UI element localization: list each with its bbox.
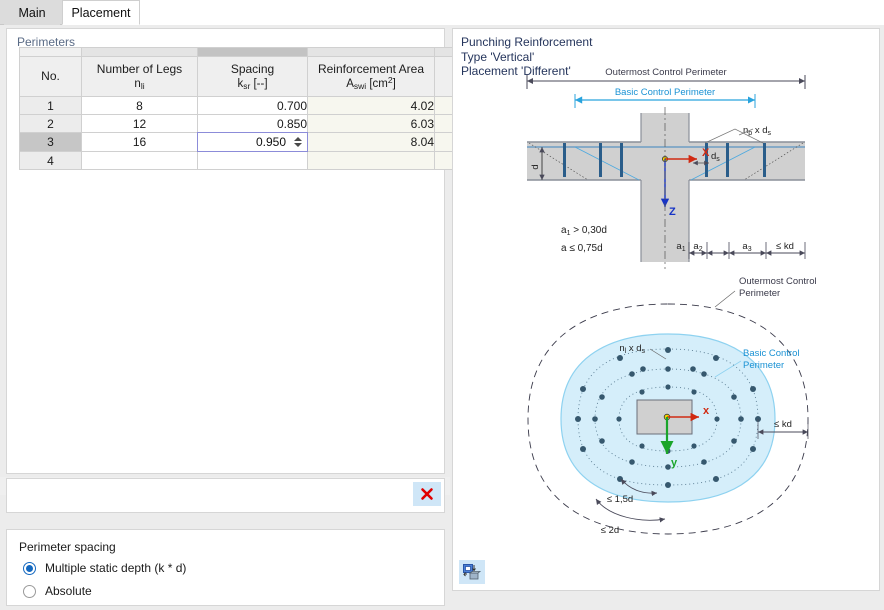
table-row[interactable]: 3 16 0.950 8.04: [20, 133, 453, 152]
header-reinforcement-area: Reinforcement Area Aswi [cm2]: [308, 57, 435, 97]
radio-unselected-icon[interactable]: [23, 585, 36, 598]
label-outermost-control-perimeter-section: Outermost Control Perimeter: [605, 67, 726, 78]
header-number-of-legs: Number of Legs nli: [82, 57, 198, 97]
dimension-chain-a1-a2-a3-kd: a1 a2 a3 ≤ kd: [676, 241, 805, 259]
radio-selected-icon[interactable]: [23, 562, 36, 575]
export-picture-button[interactable]: [459, 560, 485, 584]
cell-legs[interactable]: 16: [82, 133, 198, 152]
spinner-up-icon[interactable]: [294, 137, 302, 141]
app-window: Main Placement Perimeters: [0, 0, 884, 610]
axis-label-z-section: Z: [669, 206, 676, 218]
column-selector-legs[interactable]: [82, 48, 198, 57]
table-row[interactable]: 2 12 0.850 6.03: [20, 115, 453, 133]
tab-placement-label: Placement: [71, 6, 130, 20]
left-column: Perimeters: [0, 25, 450, 610]
radio-multiple-static-depth[interactable]: Multiple static depth (k * d): [23, 561, 186, 575]
radio-absolute-label: Absolute: [45, 584, 92, 598]
cell-tail: [435, 133, 453, 152]
svg-text:Perimeter: Perimeter: [743, 360, 784, 371]
perimeters-table: No. Number of Legs nli Spacing ksr [--] …: [19, 47, 453, 170]
dim-label-1-5d: ≤ 1,5d: [607, 494, 633, 505]
column-selector-spacing[interactable]: [198, 48, 308, 57]
cell-spacing-editor[interactable]: 0.950: [198, 133, 308, 152]
tab-strip-filler: [136, 0, 884, 25]
section-view: Outermost Control Perimeter Basic Contro…: [527, 67, 805, 269]
spacing-spinner[interactable]: 0.950: [197, 132, 308, 152]
table-row[interactable]: 4: [20, 152, 453, 170]
plan-view: Outermost Control Perimeter Basic Contro…: [528, 276, 817, 536]
dim-label-a2: a2: [693, 241, 702, 253]
cell-legs[interactable]: 12: [82, 115, 198, 133]
table-header-row: No. Number of Legs nli Spacing ksr [--] …: [20, 57, 453, 97]
row-number[interactable]: 4: [20, 152, 82, 170]
tab-main[interactable]: Main: [4, 0, 60, 25]
tab-strip: Main Placement: [0, 0, 884, 25]
column-selector-row[interactable]: [20, 48, 453, 57]
export-picture-icon: [463, 564, 481, 581]
note-a1: a1 > 0,30d: [561, 225, 607, 237]
row-number[interactable]: 1: [20, 97, 82, 115]
tab-main-label: Main: [18, 6, 45, 20]
cell-area: [308, 152, 435, 170]
cell-legs[interactable]: [82, 152, 198, 170]
perimeter-spacing-label: Perimeter spacing: [19, 540, 116, 554]
dim-label-kd-plan: ≤ kd: [774, 419, 792, 430]
table-row[interactable]: 1 8 0.700 4.02: [20, 97, 453, 115]
tab-placement[interactable]: Placement: [62, 0, 140, 25]
header-no: No.: [20, 57, 82, 97]
dim-label-2d: ≤ 2d: [601, 525, 619, 536]
close-x-icon: [420, 487, 434, 501]
perimeters-table-wrap: No. Number of Legs nli Spacing ksr [--] …: [19, 47, 452, 170]
svg-text:Perimeter: Perimeter: [739, 288, 780, 299]
cell-area: 8.04: [308, 133, 435, 152]
row-number[interactable]: 3: [20, 133, 82, 152]
cell-spacing[interactable]: 0.850: [198, 115, 308, 133]
radio-absolute[interactable]: Absolute: [23, 584, 92, 598]
header-spacing: Spacing ksr [--]: [198, 57, 308, 97]
row-number[interactable]: 2: [20, 115, 82, 133]
table-corner-selector[interactable]: [20, 48, 82, 57]
header-legs-symbol: nli: [82, 77, 197, 92]
cell-legs[interactable]: 8: [82, 97, 198, 115]
axis-label-x-section: X: [702, 147, 710, 159]
label-basic-control-perimeter-plan: Basic Control: [743, 348, 800, 359]
label-outermost-control-perimeter-plan: Outermost Control: [739, 276, 817, 287]
cell-area: 4.02: [308, 97, 435, 115]
axis-label-x-plan: x: [703, 405, 710, 417]
spinner-arrows-icon[interactable]: [294, 136, 302, 148]
message-bar: [6, 478, 445, 513]
label-basic-control-perimeter-section: Basic Control Perimeter: [615, 87, 715, 98]
axis-label-y-plan: y: [671, 457, 678, 469]
header-area-symbol: Aswi [cm2]: [308, 77, 434, 92]
dim-label-kd: ≤ kd: [776, 241, 794, 252]
radio-multiple-static-depth-label: Multiple static depth (k * d): [45, 561, 186, 575]
message-close-button[interactable]: [413, 482, 441, 506]
spacing-input-value[interactable]: 0.950: [256, 135, 286, 149]
cell-spacing[interactable]: 0.700: [198, 97, 308, 115]
punching-reinforcement-diagram: Outermost Control Perimeter Basic Contro…: [453, 29, 879, 590]
cell-area: 6.03: [308, 115, 435, 133]
note-a: a ≤ 0,75d: [561, 243, 603, 254]
cell-tail: [435, 115, 453, 133]
header-spacing-symbol: ksr [--]: [198, 77, 307, 92]
label-effective-depth: d: [530, 164, 541, 169]
cell-spacing[interactable]: [198, 152, 308, 170]
cell-tail: [435, 97, 453, 115]
perimeter-spacing-groupbox: Perimeter spacing Multiple static depth …: [6, 529, 445, 606]
column-selector-area[interactable]: [308, 48, 435, 57]
header-tail: [435, 57, 453, 97]
cell-tail: [435, 152, 453, 170]
diagram-panel: Punching Reinforcement Type 'Vertical' P…: [452, 28, 880, 591]
perimeters-groupbox: Perimeters: [6, 28, 445, 474]
spinner-down-icon[interactable]: [294, 143, 302, 147]
column-selector-tail[interactable]: [435, 48, 453, 57]
dim-label-a3: a3: [742, 241, 751, 253]
